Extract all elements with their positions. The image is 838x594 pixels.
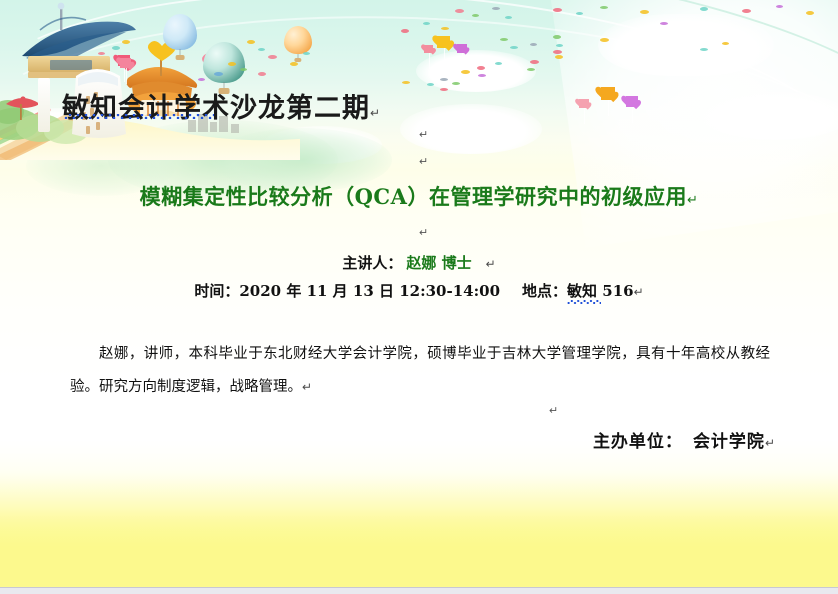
confetti-dot [500,38,508,41]
heart-shape [457,44,467,53]
cloud-top-right [598,14,774,76]
cloud-right [700,92,838,140]
confetti-dot [440,78,448,81]
speaker-name: 赵娜 博士 [402,254,471,272]
banner-title: 敏知会计学术沙龙第二期↵ [62,86,381,125]
confetti-dot [722,42,729,45]
venue-value-wrap: 敏知 516 [567,280,634,301]
balloon-blue [163,14,197,60]
main-title-text: 模糊集定性比较分析（QCA）在管理学研究中的初级应用 [140,184,687,209]
confetti-dot [98,52,105,55]
organizer-line: 主办单位：会计学院↵ [0,427,838,452]
confetti-dot [427,83,434,86]
confetti-dot [402,81,410,84]
speaker-bio-paragraph: 赵娜，讲师，本科毕业于东北财经大学会计学院，硕博毕业于吉林大学管理学院，具有十年… [70,338,770,404]
confetti-dot [258,48,265,51]
stray-pilcrow-3: ↵ [419,226,428,239]
confetti-dot [401,29,409,33]
heart-shape [120,58,131,68]
stray-pilcrow-4: ↵ [549,404,558,417]
confetti-dot [240,68,247,71]
confetti-dot [806,11,814,15]
confetti-dot [461,70,470,74]
speaker-label: 主讲人： [342,254,402,272]
confetti-dot [776,5,783,8]
heart-purple2-icon [626,96,638,123]
stray-pilcrow-2: ↵ [419,155,428,168]
speaker-bio-pilcrow: ↵ [302,380,312,394]
confetti-dot [290,62,298,66]
organizer-pilcrow: ↵ [765,436,776,450]
confetti-dot [742,9,751,13]
confetti-dot [478,74,486,77]
organizer-value: 会计学院 [693,432,765,452]
venue-spellcheck-underline [567,300,601,304]
heart-purple-icon [457,44,467,69]
confetti-dot [555,55,563,59]
heart-yellow-icon [437,36,450,64]
main-title: 模糊集定性比较分析（QCA）在管理学研究中的初级应用↵ [0,181,838,211]
confetti-dot [303,52,310,55]
confetti-dot [492,7,500,10]
confetti-dot [510,46,518,49]
confetti-dot [440,88,448,91]
speaker-pilcrow: ↵ [472,257,496,271]
confetti-dot [122,40,130,44]
poster-canvas: 敏知会计学术沙龙第二期↵ 模糊集定性比较分析（QCA）在管理学研究中的初级应用↵… [0,0,838,594]
cartoon-village-illustration [0,0,300,160]
venue-value: 敏知 516 [567,282,634,300]
confetti-dot [527,68,535,71]
confetti-dot [700,7,708,11]
confetti-dot [640,10,649,14]
venue-label: 地点： [522,282,567,300]
confetti-dot [441,27,449,30]
heart-shape [579,99,589,108]
confetti-dot [198,78,205,81]
confetti-dot [700,48,708,51]
confetti-dot [258,72,266,76]
confetti-dot [600,38,609,42]
confetti-dot [214,72,223,76]
confetti-dot [505,16,512,19]
organizer-label: 主办单位： [593,432,683,452]
main-title-pilcrow: ↵ [687,192,698,207]
heart-shape [424,45,433,53]
confetti-dot [530,43,537,46]
banner-title-spellcheck-underline [64,114,214,119]
heart-shape [601,87,615,100]
page-bottom-edge [0,588,838,594]
confetti-dot [660,22,668,25]
bottom-yellow-fade [0,440,838,588]
venue-pilcrow: ↵ [634,285,644,299]
heart-shape [626,96,638,107]
confetti-dot [472,14,479,17]
confetti-dot [553,8,562,12]
confetti-dot [495,62,502,65]
confetti-dot [576,12,583,15]
time-value: 2020 年 11 月 13 日 12:30-14:00 [239,282,500,300]
balloon-orange [284,26,312,62]
heart-shape [437,36,450,48]
banner-title-pilcrow: ↵ [370,106,381,120]
confetti-dot [112,46,120,50]
heart-yellow2-icon [601,87,615,116]
heart-pink2-icon [579,99,589,124]
confetti-dot [530,60,539,64]
confetti-dot [556,44,563,47]
confetti-dot [423,22,430,25]
confetti-dot [452,82,460,85]
stray-pilcrow-1: ↵ [419,128,428,141]
cloud-center-upper [416,50,536,92]
event-meta-line: 时间：2020 年 11 月 13 日 12:30-14:00地点：敏知 516… [0,280,838,301]
heart-pink3-icon [120,58,131,84]
speaker-bio-text: 赵娜，讲师，本科毕业于东北财经大学会计学院，硕博毕业于吉林大学管理学院，具有十年… [70,346,770,395]
time-label: 时间： [194,282,239,300]
confetti-dot [477,66,485,70]
confetti-dot [600,6,608,9]
banner-title-text: 敏知会计学术沙龙第二期 [62,93,370,124]
confetti-dot [268,55,277,59]
confetti-dot [553,50,562,54]
speaker-line: 主讲人：赵娜 博士↵ [0,252,838,273]
confetti-dot [455,9,464,13]
confetti-dot [553,35,561,39]
confetti-dot [228,62,236,66]
confetti-dot [247,40,255,44]
heart-pink-icon [424,45,433,69]
